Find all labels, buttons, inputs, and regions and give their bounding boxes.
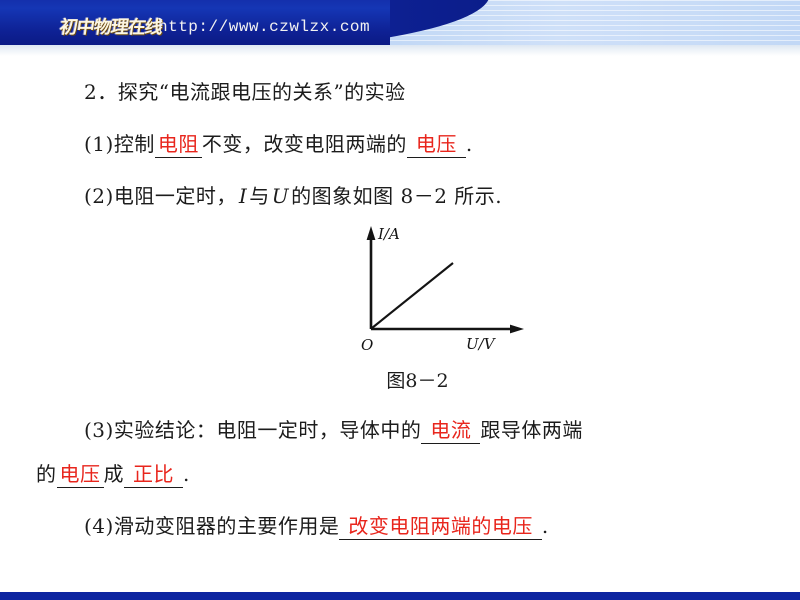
data-line-i-vs-u: [372, 263, 453, 328]
origin-label: O: [361, 336, 373, 354]
item1-label: (1)控制: [84, 132, 155, 156]
x-axis-label: U/V: [466, 335, 497, 353]
item4-answer: 改变电阻两端的电压: [339, 514, 542, 540]
banner-bottom-fade: [0, 45, 800, 56]
question-number: 2．: [84, 80, 118, 104]
item1-answer-2: 电压: [407, 132, 466, 158]
symbol-voltage: U: [270, 184, 291, 208]
item3-mid-text: 跟导体两端: [480, 418, 583, 442]
item1-period: .: [466, 132, 473, 156]
site-banner: 初中物理在线 http://www.czwlzx.com: [0, 0, 800, 56]
item3-line2-mid: 成: [104, 462, 125, 486]
question-item-4: (4)滑动变阻器的主要作用是改变电阻两端的电压.: [84, 510, 549, 539]
question-item-3-line2: 的电压成正比.: [36, 458, 190, 487]
symbol-current: I: [237, 184, 249, 208]
item2-tail: 的图象如图 8－2 所示.: [291, 184, 502, 208]
item1-mid-text: 不变，改变电阻两端的: [202, 132, 407, 156]
item3-label: (3)实验结论：电阻一定时，导体中的: [84, 418, 421, 442]
item3-answer-1: 电流: [421, 418, 480, 444]
item3-line2-prefix: 的: [36, 462, 57, 486]
x-axis-arrowhead: [510, 325, 524, 334]
item3-answer-3: 正比: [124, 462, 183, 488]
item3-period: .: [183, 462, 190, 486]
iu-graph-svg: I/A U/V O: [340, 218, 530, 368]
question-item-2: (2)电阻一定时，I与U的图象如图 8－2 所示.: [84, 180, 502, 209]
question-heading: 2．探究“电流跟电压的关系”的实验: [84, 76, 406, 105]
figure-iu-graph: I/A U/V O 图8－2: [340, 218, 530, 398]
site-logo: 初中物理在线: [58, 13, 164, 39]
question-item-1: (1)控制电阻不变，改变电阻两端的电压.: [84, 128, 473, 157]
item1-answer-1: 电阻: [155, 132, 202, 158]
item3-answer-2: 电压: [57, 462, 104, 488]
item4-period: .: [542, 514, 549, 538]
y-axis-label: I/A: [377, 225, 400, 243]
item2-joiner: 与: [249, 184, 270, 208]
item2-label: (2)电阻一定时，: [84, 184, 237, 208]
footer-bar: [0, 592, 800, 600]
question-title-text: 探究“电流跟电压的关系”的实验: [118, 80, 406, 104]
question-item-3-line1: (3)实验结论：电阻一定时，导体中的电流跟导体两端: [84, 414, 583, 443]
y-axis-arrowhead: [367, 226, 376, 240]
item4-label: (4)滑动变阻器的主要作用是: [84, 514, 339, 538]
figure-caption: 图8－2: [340, 366, 495, 393]
site-url-text: http://www.czwlzx.com: [158, 18, 370, 36]
